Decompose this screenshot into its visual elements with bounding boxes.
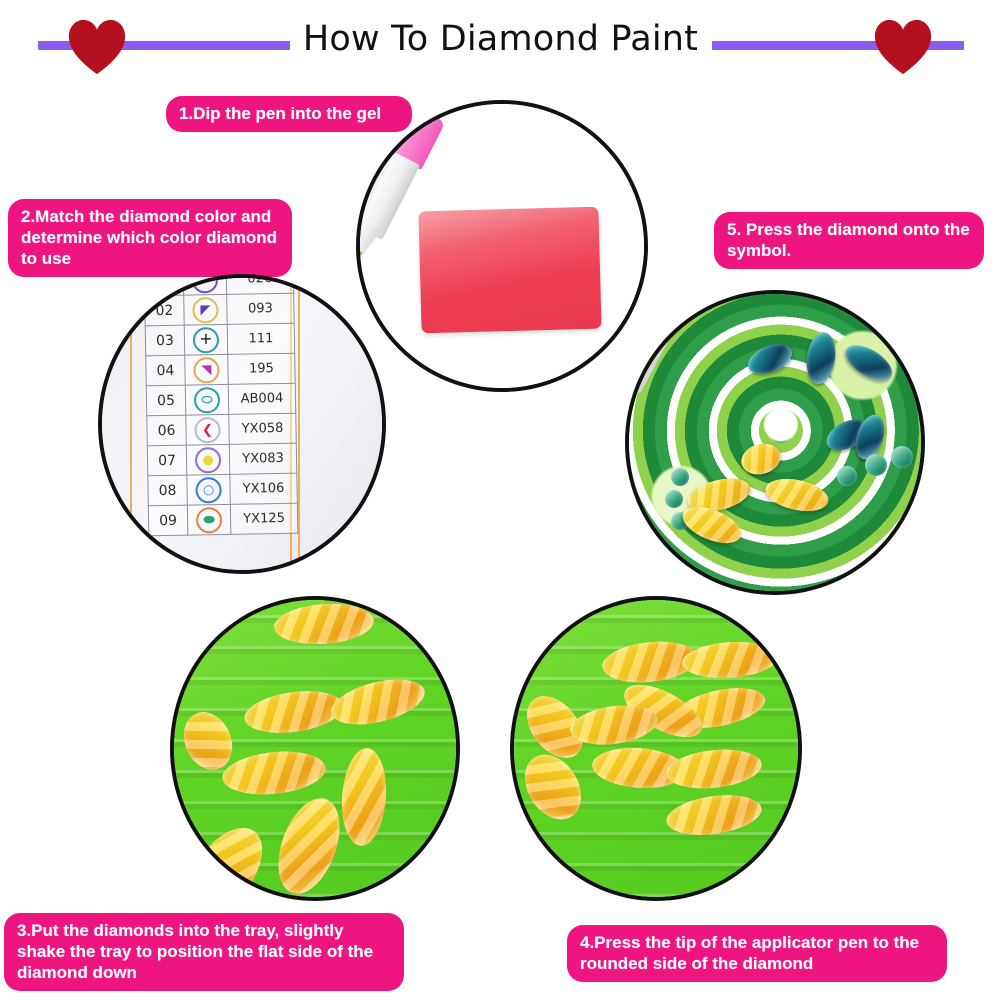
applicator-pen (625, 290, 695, 453)
yellow-diamond (339, 747, 390, 848)
yellow-diamond (763, 474, 832, 517)
step-4-label: 4.Press the tip of the applicator pen to… (567, 925, 947, 982)
color-chart-table: •• 026 02 ◤ 093 03 ＋ (144, 274, 299, 536)
table-row: 04 ◥ 195 (146, 353, 296, 386)
yellow-diamond (513, 744, 592, 830)
color-chart-photo: •• 026 02 ◤ 093 03 ＋ (98, 274, 386, 574)
diamonds-in-tray-photo (170, 596, 460, 901)
row-code: YX125 (230, 503, 298, 534)
diamond-onto-canvas-photo (625, 290, 925, 595)
row-code: YX058 (229, 413, 297, 444)
step-3-label: 3.Put the diamonds into the tray, slight… (4, 913, 404, 991)
canvas-dot (891, 446, 913, 468)
row-number: 04 (146, 355, 186, 386)
yellow-diamond (664, 790, 764, 841)
row-symbol: ◥ (185, 354, 229, 385)
row-code: YX106 (230, 473, 298, 504)
triangle-circle-symbol: ◤ (192, 297, 218, 323)
yellow-diamond (220, 747, 328, 800)
table-row: 03 ＋ 111 (145, 323, 295, 356)
row-code: AB004 (228, 383, 296, 414)
oval-circle-symbol: ⬭ (194, 387, 220, 413)
pen-picking-diamond-photo (510, 596, 802, 901)
row-symbol: ❮ (186, 414, 230, 445)
green-tray (514, 600, 798, 897)
chart-margin-line (298, 278, 300, 570)
table-row: •• 026 (144, 274, 294, 296)
table-row: 08 ○ YX106 (148, 473, 298, 506)
yellow-diamond (681, 639, 779, 682)
yellow-diamond (664, 745, 763, 793)
row-number: 02 (145, 295, 185, 326)
plus-circle-symbol: ＋ (193, 327, 219, 353)
row-number: 09 (148, 505, 188, 536)
row-code: 026 (226, 274, 294, 294)
canvas-gem (840, 338, 898, 388)
ring-circle-symbol: ○ (195, 477, 221, 503)
table-row: 05 ⬭ AB004 (146, 383, 296, 416)
row-code: 093 (227, 293, 295, 324)
canvas-gem (744, 338, 796, 379)
pen-body (625, 295, 683, 394)
table-row: 09 ⬬ YX125 (148, 503, 298, 536)
yellow-diamond (327, 671, 430, 733)
green-tray (174, 600, 456, 897)
row-number (144, 274, 184, 296)
row-code: YX083 (229, 443, 297, 474)
row-number: 06 (147, 415, 187, 446)
pen-body (510, 596, 561, 676)
table-row: 07 ● YX083 (147, 443, 297, 476)
wedge-circle-symbol: ◥ (193, 357, 219, 383)
yellow-diamond (267, 790, 352, 901)
row-symbol: ● (186, 444, 230, 475)
row-number: 08 (148, 475, 188, 506)
row-code: 195 (228, 353, 296, 384)
leaf-circle-symbol: ⬬ (196, 507, 222, 533)
yellow-diamond (738, 439, 785, 479)
row-number: 07 (147, 445, 187, 476)
page-title: How To Diamond Paint (0, 19, 1001, 59)
chart-paper: •• 026 02 ◤ 093 03 ＋ (102, 278, 382, 570)
yellow-diamond (175, 815, 277, 901)
red-gel-pad (418, 207, 601, 334)
canvas-dot (671, 468, 689, 486)
step-5-label: 5. Press the diamond onto the symbol. (714, 212, 984, 269)
row-symbol: ◤ (184, 294, 228, 325)
arrow-left-circle-symbol: ❮ (194, 417, 220, 443)
canvas-gem (804, 330, 839, 385)
filled-dot-circle-symbol: ● (195, 447, 221, 473)
row-number: 05 (146, 385, 186, 416)
row-number: 03 (145, 325, 185, 356)
chart-margin-line (130, 278, 132, 570)
row-symbol: ⬭ (185, 384, 229, 415)
canvas-dot (865, 454, 887, 476)
yellow-diamond (273, 601, 376, 648)
canvas-dot (665, 490, 683, 508)
photo-background (360, 104, 644, 388)
pen-dipping-into-gel-photo (356, 100, 648, 392)
row-code: 111 (227, 323, 295, 354)
mandala-canvas (629, 294, 921, 591)
canvas-dot (837, 466, 857, 486)
row-symbol: ＋ (184, 324, 228, 355)
table-row: 02 ◤ 093 (145, 293, 295, 326)
row-symbol: ○ (187, 474, 231, 505)
row-symbol: •• (183, 274, 227, 295)
table-row: 06 ❮ YX058 (147, 413, 297, 446)
step-2-label: 2.Match the diamond color and determine … (8, 199, 292, 277)
yellow-diamond (242, 685, 347, 739)
header-banner: How To Diamond Paint (0, 0, 1001, 88)
row-symbol: ⬬ (187, 504, 231, 535)
